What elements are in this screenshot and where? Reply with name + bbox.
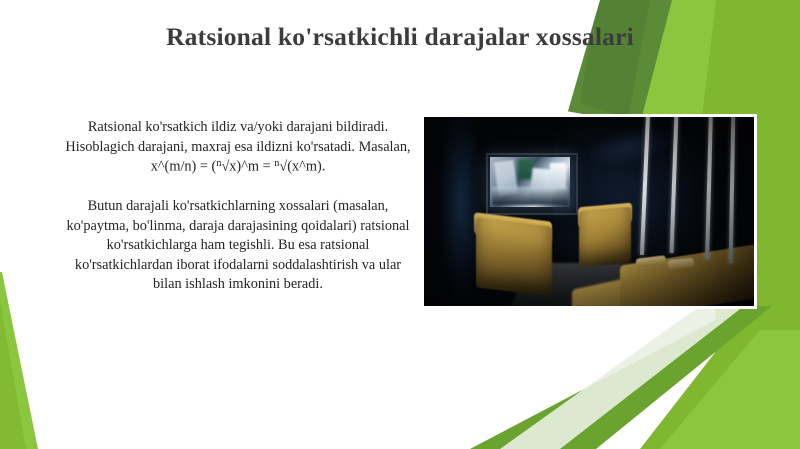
photo-vignette <box>424 117 754 306</box>
paragraph-1-part-b: √x)^m = <box>221 158 274 174</box>
paragraph-1: Ratsional ko'rsatkich ildiz va/yoki dara… <box>62 118 414 177</box>
page-title: Ratsional ko'rsatkichli darajalar xossal… <box>0 22 800 52</box>
paragraph-2: Butun darajali ko'rsatkichlarning xossal… <box>62 197 414 295</box>
body-text-column: Ratsional ko'rsatkich ildiz va/yoki dara… <box>62 118 414 295</box>
slide-canvas: Ratsional ko'rsatkichli darajalar xossal… <box>0 0 800 449</box>
photo-frame <box>424 117 754 306</box>
paragraph-1-part-c: √(x^m). <box>279 158 325 174</box>
home-theater-room-photo <box>424 117 754 306</box>
